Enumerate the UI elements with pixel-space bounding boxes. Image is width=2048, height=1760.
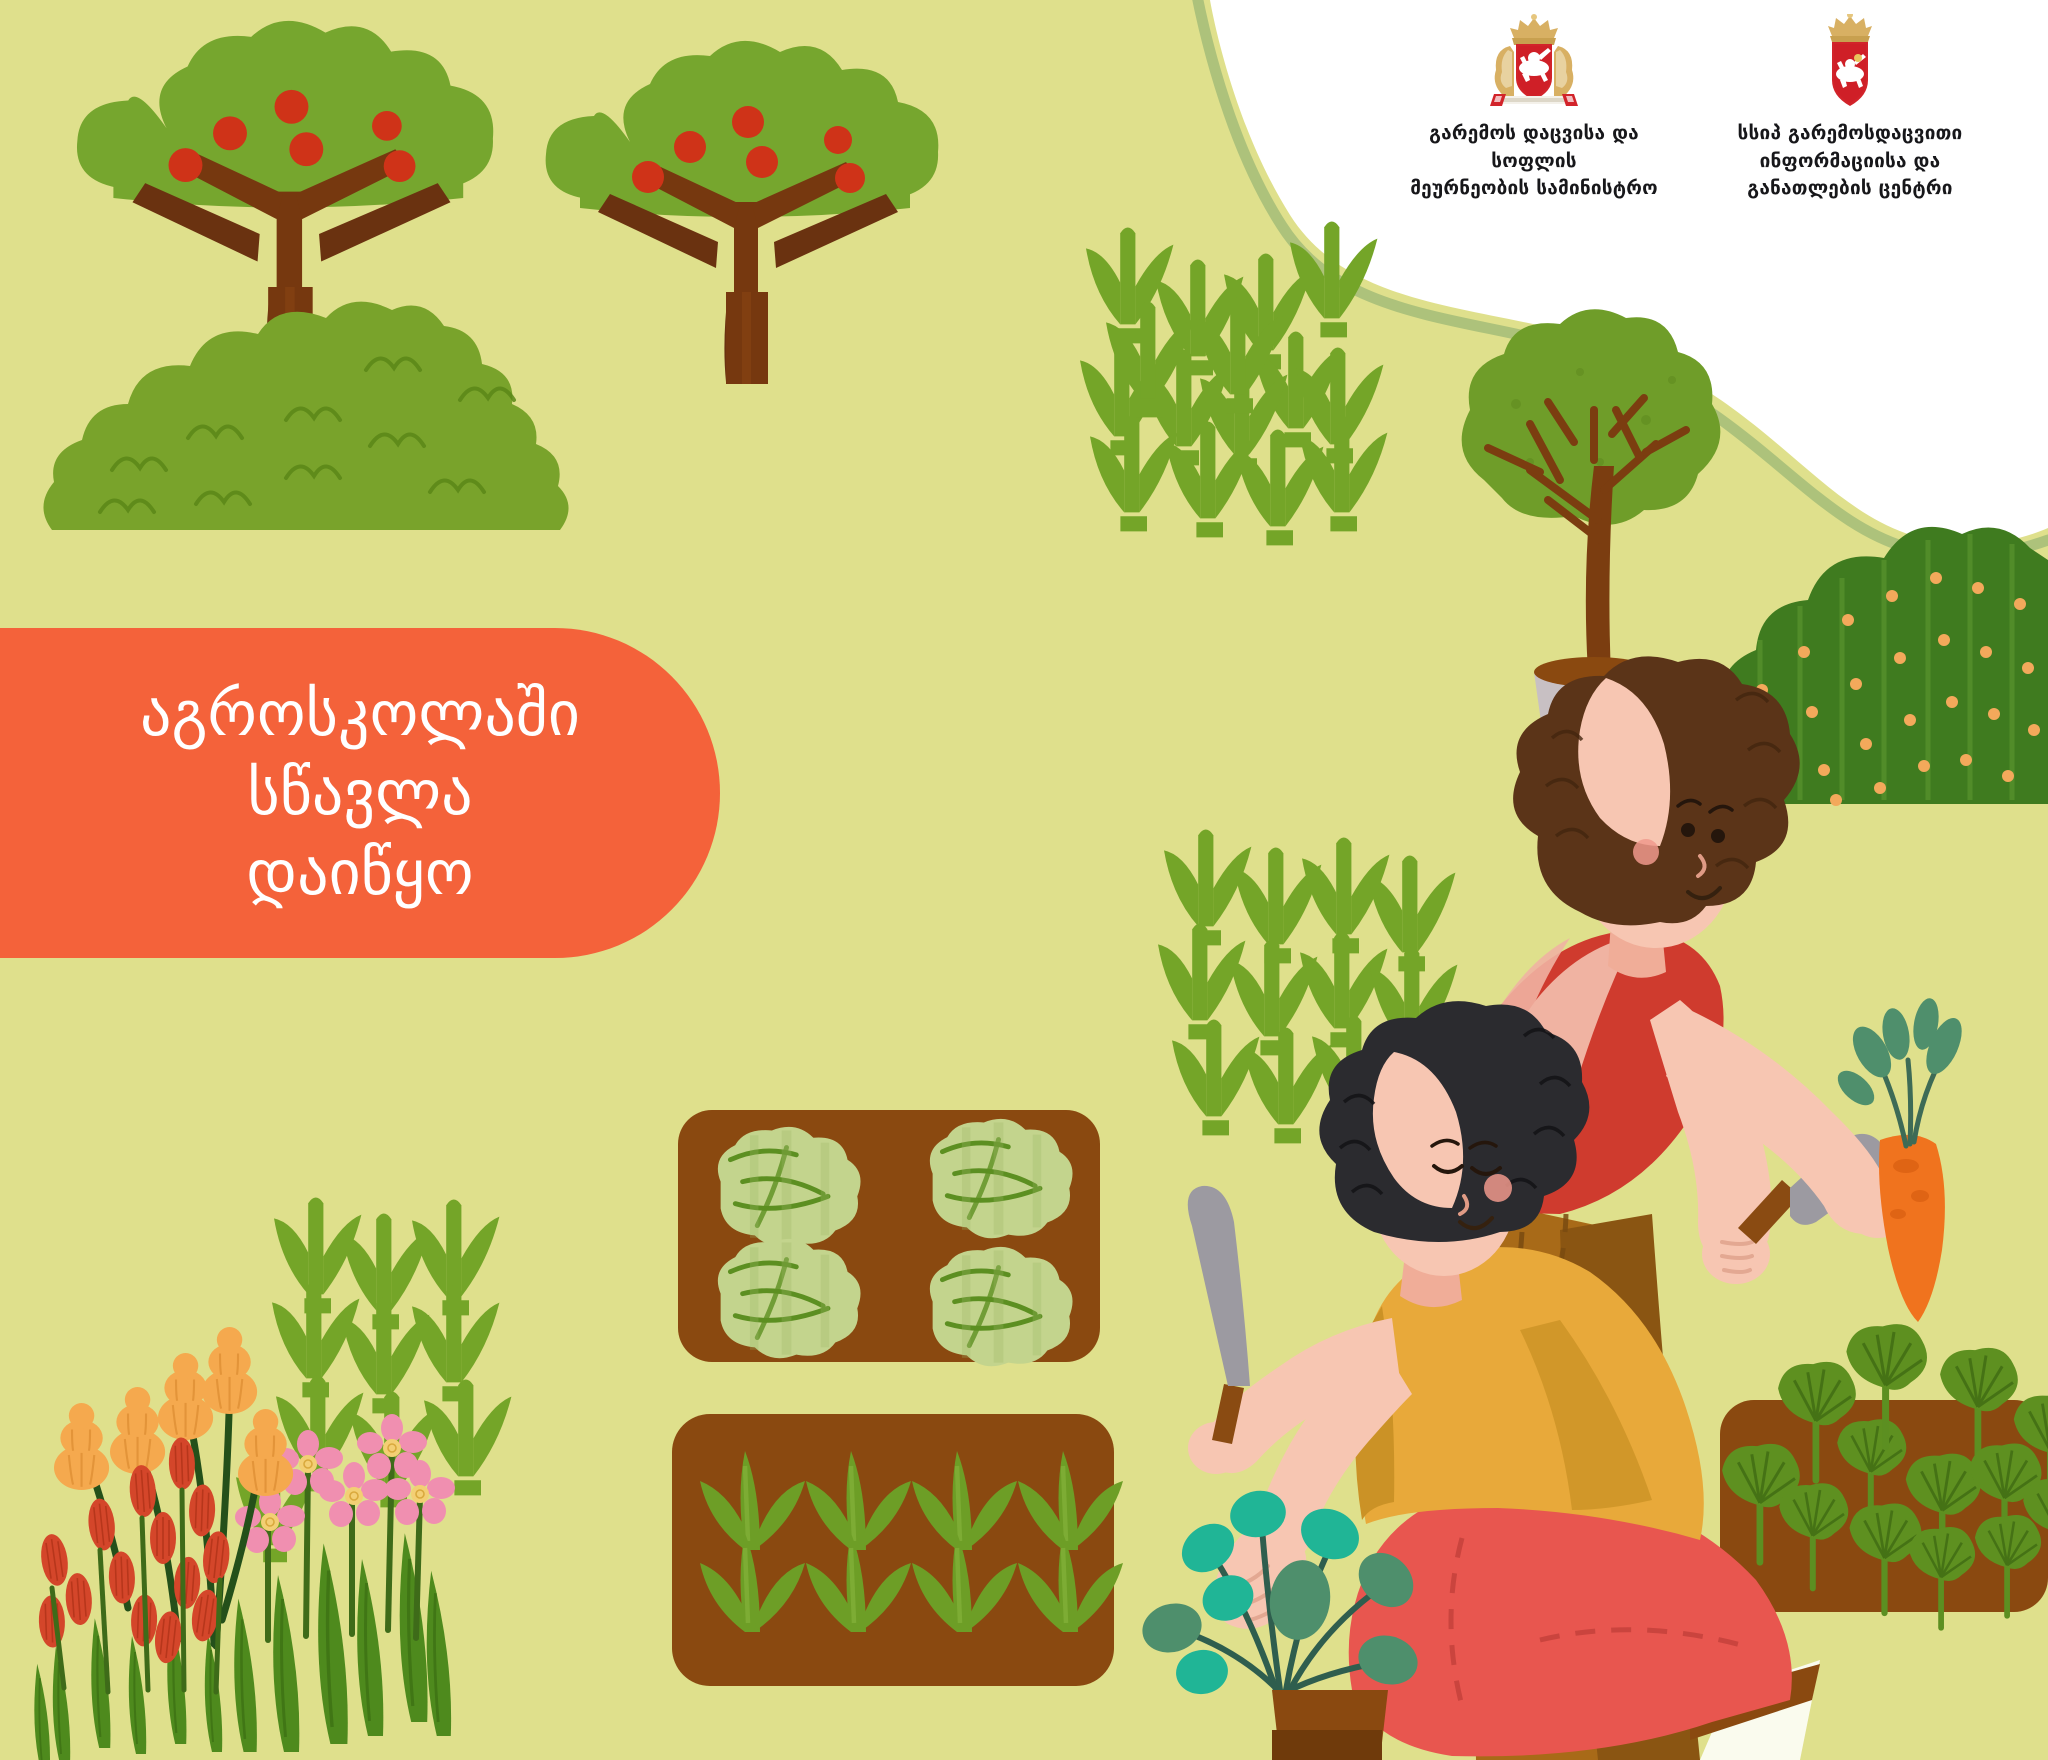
poster-title: აგროსკოლაში სწავლა დაიწყო: [140, 674, 580, 912]
ministry-logo-text: გარემოს დაცვისა და სოფლის მეურნეობის სამ…: [1384, 120, 1684, 203]
title-banner: აგროსკოლაში სწავლა დაიწყო: [0, 628, 720, 958]
sprout-plot: [672, 1414, 1123, 1686]
georgia-coat-of-arms-icon: [1488, 14, 1580, 110]
georgia-shield-icon: [1818, 14, 1882, 110]
cabbage-plot: [678, 1110, 1100, 1366]
poster-canvas: გარემოს დაცვისა და სოფლის მეურნეობის სამ…: [0, 0, 2048, 1760]
center-logo-text: სსიპ გარემოსდაცვითი ინფორმაციისა და განა…: [1738, 120, 1963, 203]
center-logo-block: სსიპ გარემოსდაცვითი ინფორმაციისა და განა…: [1700, 14, 2000, 203]
ministry-logo-block: გარემოს დაცვისა და სოფლის მეურნეობის სამ…: [1384, 14, 1684, 203]
